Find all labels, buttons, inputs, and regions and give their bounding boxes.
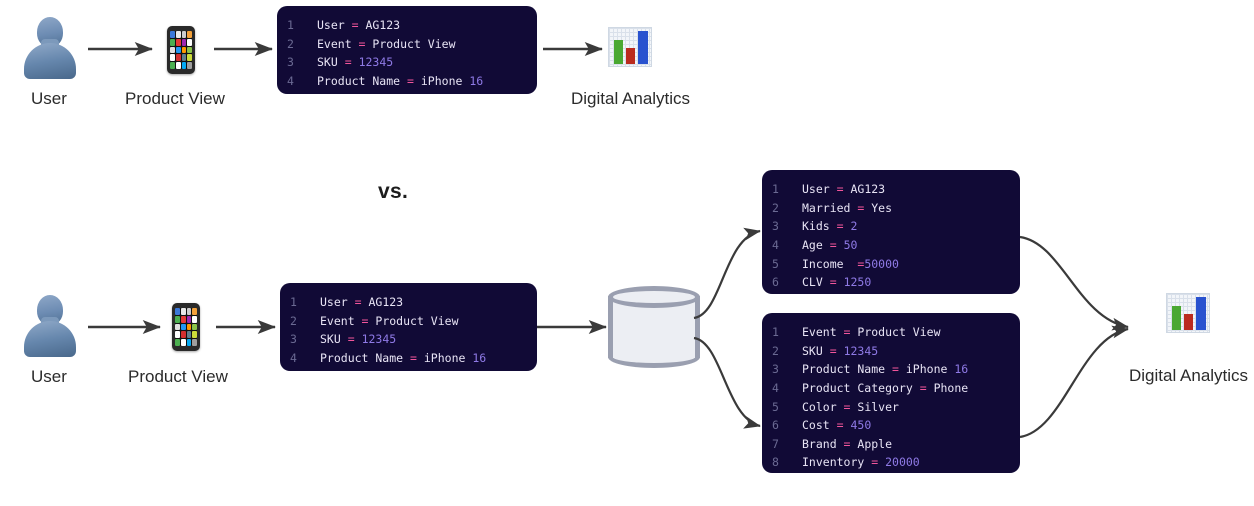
- line-number: 2: [287, 35, 317, 54]
- code-event-bottom-line: 1User = AG123: [290, 293, 523, 312]
- line-number: 1: [290, 293, 320, 312]
- code-value: 20000: [885, 453, 920, 472]
- code-key: Product Name: [320, 349, 403, 368]
- code-value-tail: 16: [472, 349, 486, 368]
- arrow-user-profile-to-analytics: [1020, 237, 1128, 327]
- line-number: 2: [772, 342, 802, 361]
- code-event-top-line: 3SKU = 12345: [287, 53, 523, 72]
- code-key: Brand: [802, 435, 837, 454]
- code-user-profile-line: 5Income =50000: [772, 255, 1006, 274]
- code-value: 12345: [359, 53, 394, 72]
- code-operator: =: [864, 453, 885, 472]
- code-key: User: [317, 16, 345, 35]
- code-value: AG123: [850, 180, 885, 199]
- code-value: 1250: [844, 273, 872, 292]
- line-number: 4: [287, 72, 317, 91]
- diagram-canvas: User Product View 1User = AG1232Event = …: [0, 0, 1254, 506]
- code-user-profile-line: 1User = AG123: [772, 180, 1006, 199]
- code-block-event-bottom: 1User = AG1232Event = Product View3SKU =…: [280, 283, 537, 371]
- code-product-detail-line: 8Inventory = 20000: [772, 453, 1006, 472]
- code-value: Product View: [857, 323, 940, 342]
- code-operator: =: [348, 293, 369, 312]
- code-block-product-detail: 1Event = Product View2SKU = 123453Produc…: [762, 313, 1020, 473]
- code-operator: =: [850, 255, 864, 274]
- code-operator: =: [345, 16, 366, 35]
- code-event-bottom-line: 2Event = Product View: [290, 312, 523, 331]
- code-operator: =: [837, 323, 858, 342]
- arrow-database-to-product-detail: [694, 338, 760, 426]
- code-operator: =: [338, 53, 359, 72]
- code-event-top-line: 4Product Name = iPhone 16: [287, 72, 523, 91]
- code-key: Married: [802, 199, 850, 218]
- line-number: 5: [772, 398, 802, 417]
- code-key: Cost: [802, 416, 830, 435]
- line-number: 8: [772, 453, 802, 472]
- code-value: iPhone: [424, 349, 472, 368]
- code-key: Product Name: [802, 360, 885, 379]
- code-block-event-top: 1User = AG1232Event = Product View3SKU =…: [277, 6, 537, 94]
- code-operator: =: [400, 72, 421, 91]
- code-value-tail: 16: [469, 72, 483, 91]
- line-number: 3: [772, 360, 802, 379]
- code-user-profile-line: 4Age = 50: [772, 236, 1006, 255]
- code-user-profile-line: 6CLV = 1250: [772, 273, 1006, 292]
- code-value: 12345: [844, 342, 879, 361]
- code-value: iPhone: [906, 360, 954, 379]
- line-number: 4: [772, 236, 802, 255]
- line-number: 6: [772, 273, 802, 292]
- code-key: User: [802, 180, 830, 199]
- code-operator: =: [341, 330, 362, 349]
- code-value: AG123: [365, 16, 400, 35]
- code-operator: =: [885, 360, 906, 379]
- arrows-layer: [0, 0, 1254, 506]
- code-value-tail: 16: [954, 360, 968, 379]
- code-event-top-line: 1User = AG123: [287, 16, 523, 35]
- line-number: 2: [772, 199, 802, 218]
- code-product-detail-line: 4Product Category = Phone: [772, 379, 1006, 398]
- code-value: Yes: [871, 199, 892, 218]
- arrow-database-to-user-profile: [694, 231, 760, 318]
- code-user-profile-line: 2Married = Yes: [772, 199, 1006, 218]
- line-number: 5: [772, 255, 802, 274]
- code-key: CLV: [802, 273, 823, 292]
- line-number: 3: [290, 330, 320, 349]
- line-number: 2: [290, 312, 320, 331]
- code-product-detail-line: 5Color = Silver: [772, 398, 1006, 417]
- code-operator: =: [830, 217, 851, 236]
- line-number: 7: [772, 435, 802, 454]
- code-value: AG123: [368, 293, 403, 312]
- code-event-bottom-line: 3SKU = 12345: [290, 330, 523, 349]
- code-key: SKU: [317, 53, 338, 72]
- code-operator: =: [830, 416, 851, 435]
- line-number: 1: [772, 180, 802, 199]
- code-value: 12345: [362, 330, 397, 349]
- code-key: Inventory: [802, 453, 864, 472]
- code-operator: =: [850, 199, 871, 218]
- code-value: Apple: [857, 435, 892, 454]
- code-key: Age: [802, 236, 823, 255]
- code-value: 50000: [864, 255, 899, 274]
- line-number: 1: [772, 323, 802, 342]
- code-product-detail-line: 3Product Name = iPhone 16: [772, 360, 1006, 379]
- code-value: 50: [844, 236, 858, 255]
- code-key: SKU: [320, 330, 341, 349]
- code-product-detail-line: 6Cost = 450: [772, 416, 1006, 435]
- code-key: Kids: [802, 217, 830, 236]
- code-key: Income: [802, 255, 850, 274]
- line-number: 1: [287, 16, 317, 35]
- code-value: 2: [850, 217, 857, 236]
- code-key: Event: [320, 312, 355, 331]
- code-value: Product View: [375, 312, 458, 331]
- code-operator: =: [913, 379, 934, 398]
- code-operator: =: [823, 236, 844, 255]
- code-value: Product View: [372, 35, 455, 54]
- code-operator: =: [837, 398, 858, 417]
- line-number: 3: [772, 217, 802, 236]
- code-value: iPhone: [421, 72, 469, 91]
- code-product-detail-line: 7Brand = Apple: [772, 435, 1006, 454]
- code-key: Event: [802, 323, 837, 342]
- code-operator: =: [823, 342, 844, 361]
- code-event-bottom-line: 4Product Name = iPhone 16: [290, 349, 523, 368]
- code-operator: =: [355, 312, 376, 331]
- line-number: 6: [772, 416, 802, 435]
- code-key: Product Name: [317, 72, 400, 91]
- code-key: User: [320, 293, 348, 312]
- code-operator: =: [823, 273, 844, 292]
- code-value: 450: [850, 416, 871, 435]
- arrow-product-detail-to-analytics: [1020, 329, 1128, 437]
- code-key: Product Category: [802, 379, 913, 398]
- line-number: 3: [287, 53, 317, 72]
- code-operator: =: [830, 180, 851, 199]
- code-operator: =: [837, 435, 858, 454]
- code-value: Silver: [857, 398, 899, 417]
- line-number: 4: [290, 349, 320, 368]
- line-number: 4: [772, 379, 802, 398]
- code-key: Event: [317, 35, 352, 54]
- code-key: SKU: [802, 342, 823, 361]
- code-operator: =: [403, 349, 424, 368]
- code-key: Color: [802, 398, 837, 417]
- code-product-detail-line: 2SKU = 12345: [772, 342, 1006, 361]
- code-product-detail-line: 1Event = Product View: [772, 323, 1006, 342]
- code-operator: =: [352, 35, 373, 54]
- code-block-user-profile: 1User = AG1232Married = Yes3Kids = 24Age…: [762, 170, 1020, 294]
- code-value: Phone: [934, 379, 969, 398]
- code-event-top-line: 2Event = Product View: [287, 35, 523, 54]
- code-user-profile-line: 3Kids = 2: [772, 217, 1006, 236]
